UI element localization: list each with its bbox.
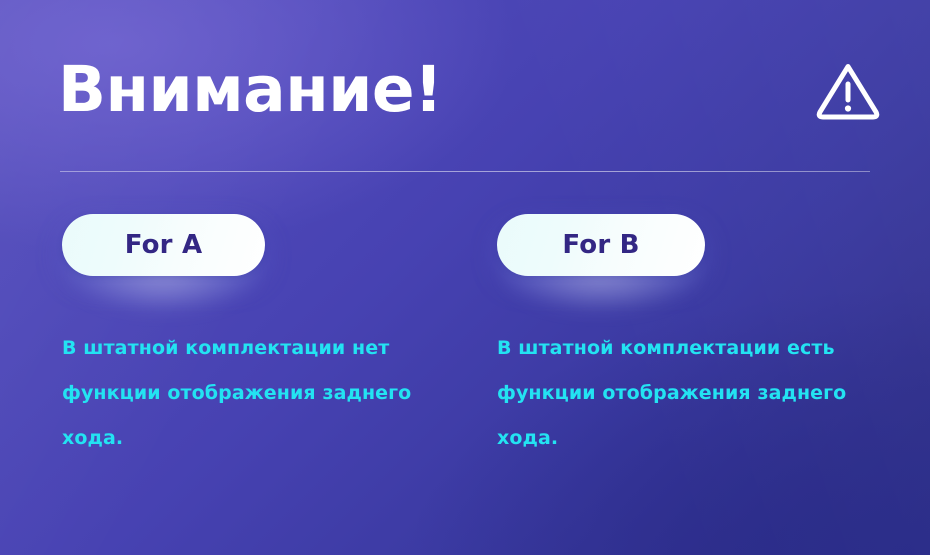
column-for-b: For B В штатной комплектации есть функци… [497,214,897,461]
for-b-button[interactable]: For B [497,214,705,276]
for-a-description: В штатной комплектации нет функции отобр… [62,276,442,461]
warning-triangle-icon [814,60,882,122]
column-for-a: For A В штатной комплектации нет функции… [62,214,462,461]
for-b-description: В штатной комплектации есть функции отоб… [497,276,879,461]
for-b-button-wrap: For B [497,214,705,276]
notice-slide: Внимание! For A В штатной комплектации н… [0,0,930,555]
for-a-button[interactable]: For A [62,214,265,276]
for-a-button-wrap: For A [62,214,265,276]
header-divider [60,171,870,172]
page-title: Внимание! [58,52,442,128]
